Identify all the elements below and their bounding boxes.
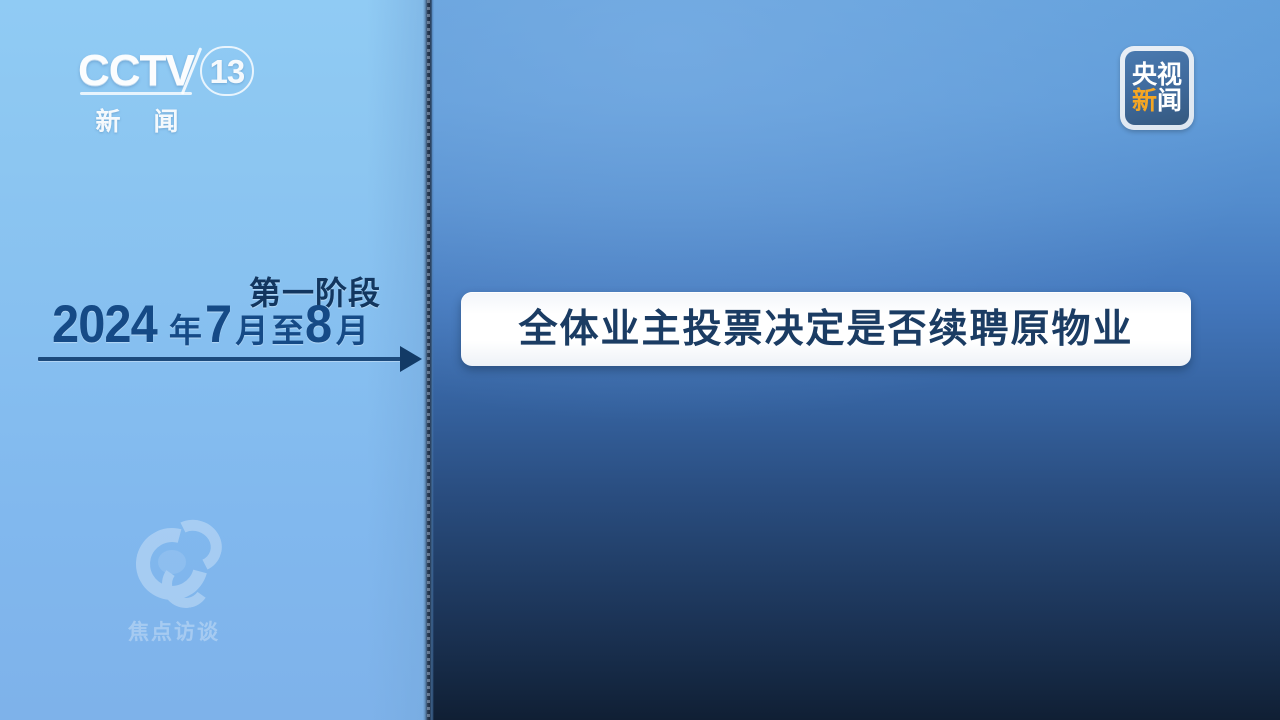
focus-interview-watermark-label: 焦点访谈 bbox=[108, 616, 240, 646]
timeline-range-connector: 至 bbox=[271, 314, 304, 347]
cctv-13-logo: CCTV 13 新 闻 bbox=[78, 44, 254, 136]
cctv-news-badge: 央视 新 闻 bbox=[1120, 46, 1194, 130]
timeline-date-range: 2024 年 7 月 至 8 月 bbox=[52, 298, 370, 351]
timeline-end-month-number: 8 bbox=[305, 298, 331, 351]
cctv-logo-subtitle: 新 闻 bbox=[78, 102, 196, 138]
headline-banner: 全体业主投票决定是否续聘原物业 bbox=[461, 292, 1191, 366]
cctv-channel-number: 13 bbox=[210, 55, 245, 88]
swirl-eye-icon bbox=[122, 522, 226, 610]
swirl-pupil-shape bbox=[158, 550, 186, 574]
cctv-channel-number-badge: 13 bbox=[200, 46, 254, 96]
cctv-news-badge-line-1: 央视 bbox=[1132, 63, 1182, 88]
cctv-logo-row: CCTV 13 bbox=[78, 44, 254, 98]
headline-banner-text: 全体业主投票决定是否续聘原物业 bbox=[518, 310, 1133, 349]
timeline-year-unit: 年 bbox=[169, 314, 202, 347]
focus-interview-watermark: 焦点访谈 bbox=[108, 522, 240, 650]
timeline-start-month-number: 7 bbox=[205, 298, 231, 351]
panel-divider-dots bbox=[427, 0, 430, 720]
cctv-news-badge-inner: 央视 新 闻 bbox=[1125, 51, 1189, 125]
broadcast-screen: CCTV 13 新 闻 央视 新 闻 第一阶段 2024 年 7 月 至 8 bbox=[0, 0, 1280, 720]
cctv-news-badge-line-2: 新 闻 bbox=[1132, 89, 1182, 114]
timeline-start-month-unit: 月 bbox=[235, 314, 268, 347]
arrow-right-icon bbox=[400, 346, 422, 372]
timeline-axis bbox=[38, 357, 404, 361]
timeline-year-number: 2024 bbox=[52, 298, 157, 351]
timeline-end-month-unit: 月 bbox=[336, 314, 369, 347]
cctv-news-badge-text-accent: 新 bbox=[1132, 89, 1157, 114]
cctv-wordmark: CCTV bbox=[78, 49, 194, 93]
cctv-news-badge-text-top: 央视 bbox=[1132, 63, 1182, 88]
cctv-underline-icon bbox=[80, 92, 192, 95]
cctv-news-badge-text-plain: 闻 bbox=[1157, 89, 1182, 114]
